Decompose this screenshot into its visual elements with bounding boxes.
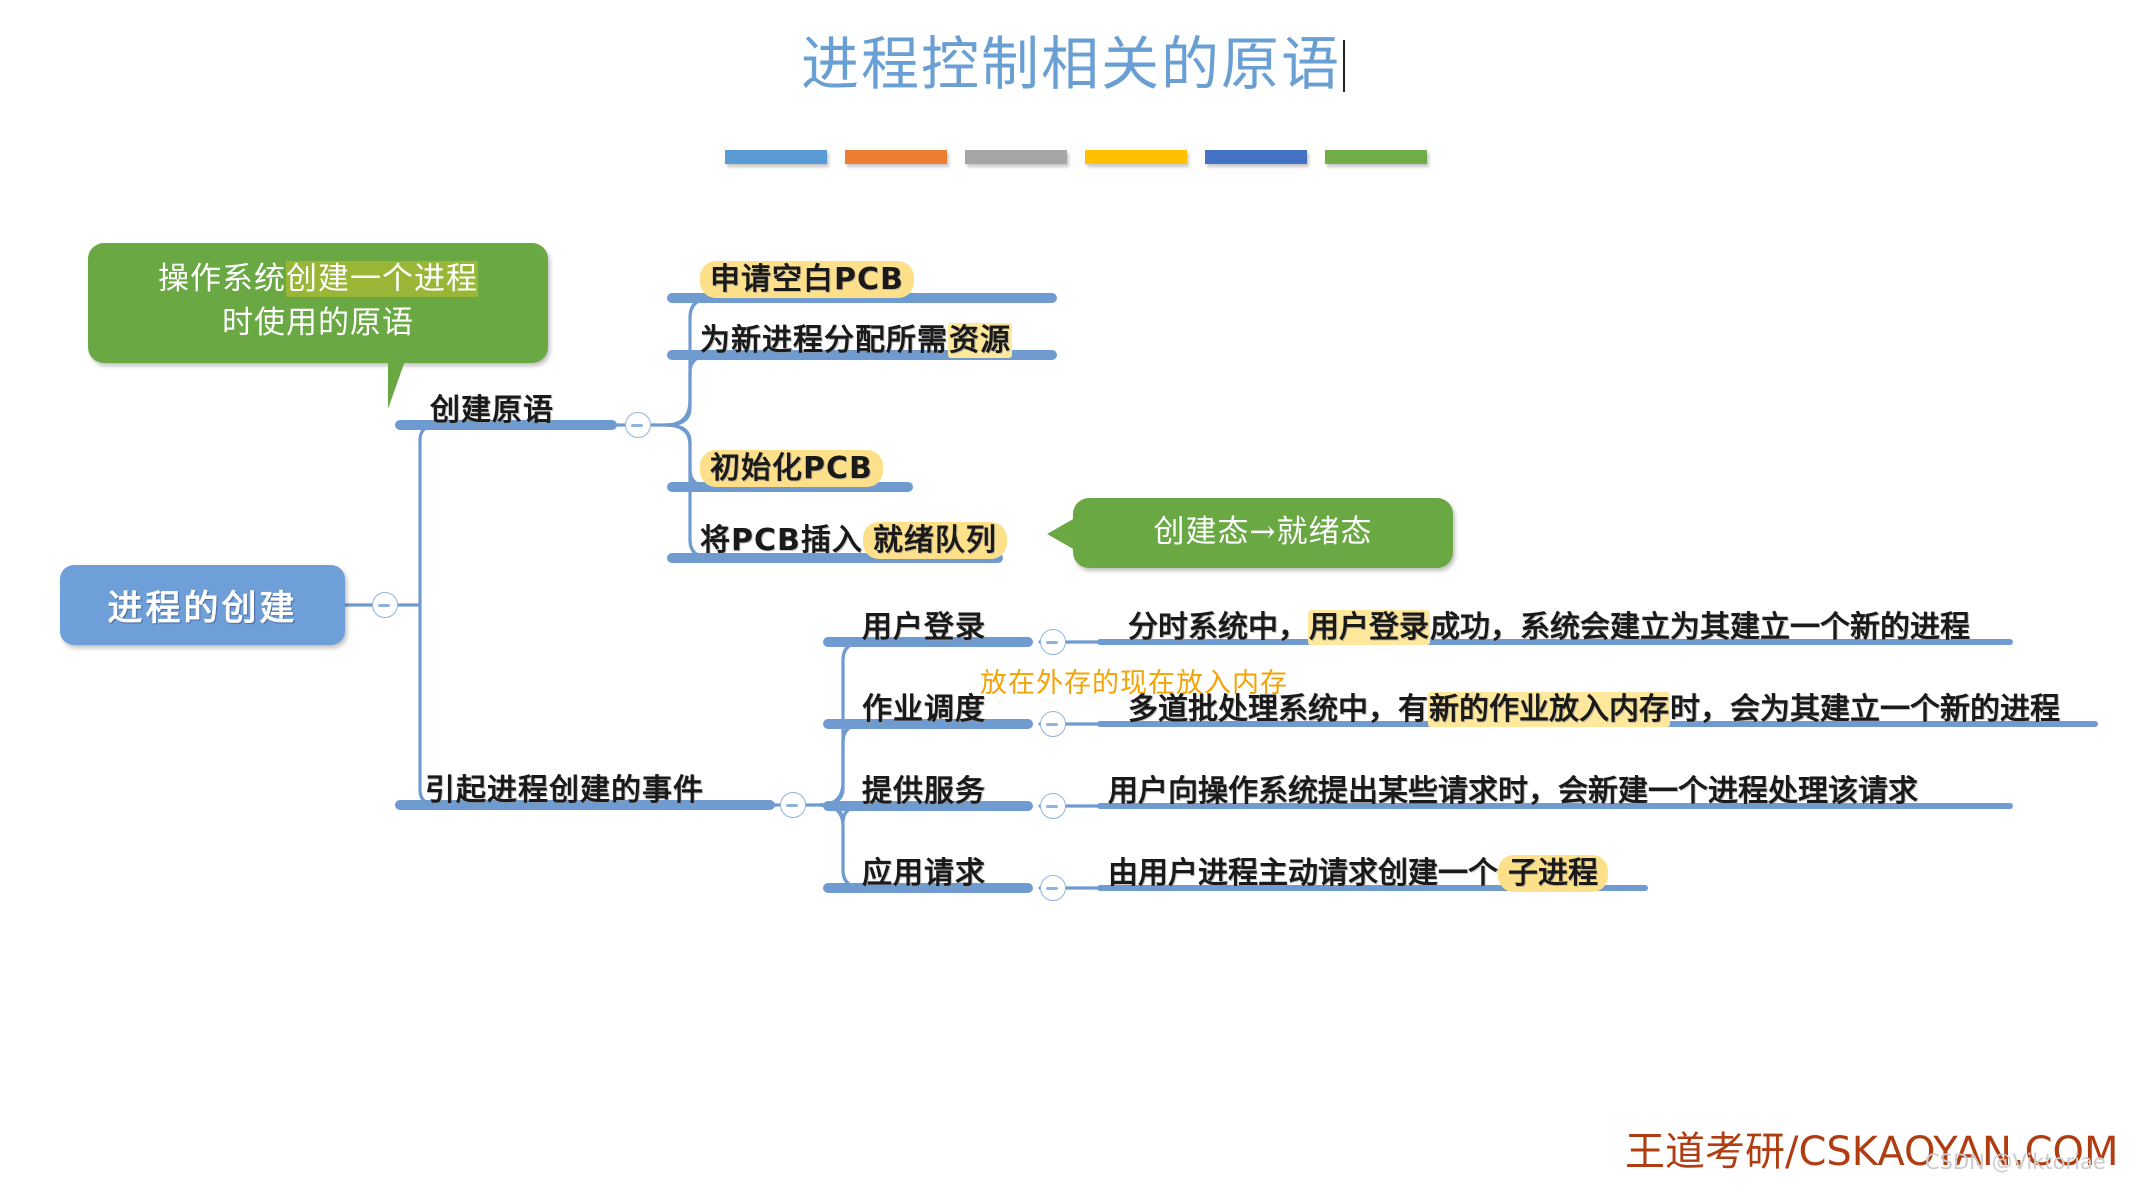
- toggle-root[interactable]: [372, 592, 398, 618]
- callout-create-line1: 操作系统创建一个进程: [88, 257, 548, 301]
- desc-provide-service-pre: 用户向操作系统提出某些请求时，会新建一个进程处理该请求: [1108, 774, 1918, 809]
- mindmap-canvas: 进程控制相关的原语: [0, 0, 2146, 1196]
- node-insert-ready-queue-highlight: 就绪队列: [863, 522, 1007, 559]
- bar-green: [1325, 150, 1427, 164]
- bar-yellow: [1085, 150, 1187, 164]
- bar-gray: [965, 150, 1067, 164]
- toggle-user-login[interactable]: [1040, 629, 1066, 655]
- text-cursor: [1343, 40, 1345, 92]
- node-provide-service[interactable]: 提供服务: [862, 766, 986, 810]
- root-node[interactable]: 进程的创建: [60, 565, 345, 645]
- node-insert-ready-queue[interactable]: 将PCB插入就绪队列: [700, 515, 1007, 559]
- node-insert-ready-queue-text: 将PCB插入: [700, 523, 863, 558]
- page-title-text: 进程控制相关的原语: [801, 30, 1341, 98]
- toggle-create-primitive[interactable]: [625, 412, 651, 438]
- desc-application-request-highlight: 子进程: [1498, 855, 1608, 892]
- node-init-pcb[interactable]: 初始化PCB: [700, 443, 883, 487]
- callout-create-line1-pre: 操作系统: [158, 261, 286, 297]
- node-init-pcb-label: 初始化PCB: [700, 450, 883, 487]
- node-allocate-resources-highlight: 资源: [948, 323, 1012, 358]
- bar-darkblue: [1205, 150, 1307, 164]
- callout-create-line1-highlight: 创建一个进程: [286, 261, 478, 297]
- bar-blue: [725, 150, 827, 164]
- callout-ready-tail: [1047, 518, 1075, 550]
- node-user-login-label: 用户登录: [862, 610, 986, 645]
- watermark-csdn: CSDN @Viktoriae: [1925, 1150, 2106, 1174]
- callout-ready-state: 创建态→就绪态: [1073, 498, 1453, 568]
- toggle-provide-service[interactable]: [1040, 793, 1066, 819]
- node-job-scheduling[interactable]: 作业调度: [862, 684, 986, 728]
- desc-user-login[interactable]: 分时系统中，用户登录成功，系统会建立为其建立一个新的进程: [1128, 602, 1970, 646]
- desc-job-scheduling-highlight: 新的作业放入内存: [1428, 692, 1670, 727]
- color-bar-strip: [725, 150, 1427, 164]
- node-apply-blank-pcb[interactable]: 申请空白PCB: [700, 254, 914, 298]
- callout-create-primitive: 操作系统创建一个进程 时使用的原语: [88, 243, 548, 363]
- node-user-login[interactable]: 用户登录: [862, 602, 986, 646]
- node-job-scheduling-label: 作业调度: [862, 692, 986, 727]
- root-node-label: 进程的创建: [107, 580, 297, 631]
- node-application-request[interactable]: 应用请求: [862, 848, 986, 892]
- callout-create-line2: 时使用的原语: [88, 301, 548, 345]
- annotation-memory-note: 放在外存的现在放入内存: [980, 661, 1288, 700]
- desc-provide-service[interactable]: 用户向操作系统提出某些请求时，会新建一个进程处理该请求: [1108, 766, 1918, 810]
- node-apply-blank-pcb-label: 申请空白PCB: [700, 261, 914, 298]
- desc-user-login-pre: 分时系统中，: [1128, 610, 1308, 645]
- desc-application-request[interactable]: 由用户进程主动请求创建一个子进程: [1108, 848, 1608, 892]
- callout-ready-text: 创建态→就绪态: [1073, 510, 1453, 554]
- node-allocate-resources-text: 为新进程分配所需: [700, 323, 948, 358]
- toggle-application-request[interactable]: [1040, 875, 1066, 901]
- node-application-request-label: 应用请求: [862, 856, 986, 891]
- desc-job-scheduling-post: 时，会为其建立一个新的进程: [1670, 692, 2060, 727]
- toggle-job-scheduling[interactable]: [1040, 711, 1066, 737]
- annotation-memory-note-text: 放在外存的现在放入内存: [980, 668, 1288, 699]
- desc-user-login-post: 成功，系统会建立为其建立一个新的进程: [1430, 610, 1970, 645]
- callout-create-tail: [388, 341, 482, 409]
- node-provide-service-label: 提供服务: [862, 774, 986, 809]
- desc-user-login-highlight: 用户登录: [1308, 610, 1430, 645]
- node-allocate-resources[interactable]: 为新进程分配所需资源: [700, 315, 1012, 359]
- toggle-create-events[interactable]: [780, 792, 806, 818]
- desc-application-request-pre: 由用户进程主动请求创建一个: [1108, 856, 1498, 891]
- page-title: 进程控制相关的原语: [0, 28, 2146, 100]
- bar-orange: [845, 150, 947, 164]
- node-create-events-label: 引起进程创建的事件: [425, 773, 704, 808]
- node-create-events[interactable]: 引起进程创建的事件: [425, 765, 704, 809]
